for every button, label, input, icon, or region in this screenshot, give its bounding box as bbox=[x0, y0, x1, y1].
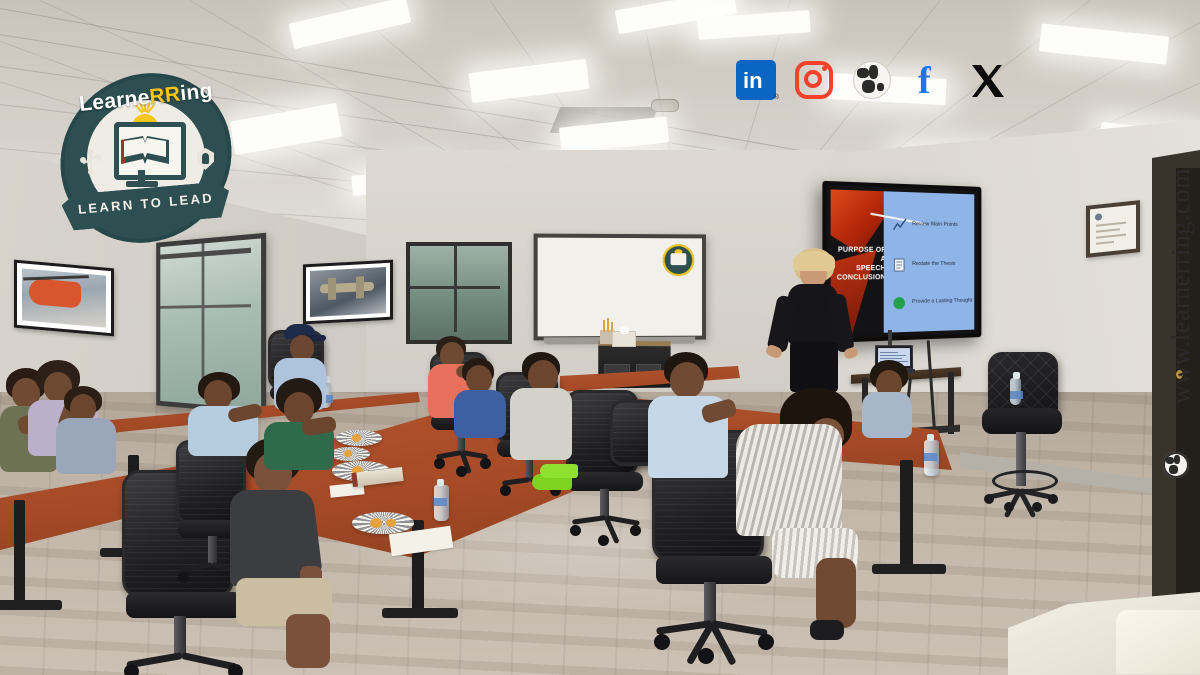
instagram-icon[interactable] bbox=[792, 58, 836, 102]
green-sneaker bbox=[540, 464, 578, 478]
student-right-2 bbox=[736, 388, 876, 658]
water-bottle bbox=[1010, 378, 1021, 405]
social-icon-bar: in ® f bbox=[734, 56, 1010, 104]
registered-mark: ® bbox=[774, 94, 779, 101]
presenter bbox=[766, 248, 852, 396]
tissue-box bbox=[612, 331, 636, 347]
water-bottle bbox=[924, 440, 939, 476]
slide-bullet-3: Provide a Lasting Thought bbox=[912, 298, 972, 305]
table-leg bbox=[14, 500, 25, 610]
ceiling-light-panel bbox=[469, 59, 590, 103]
framed-osprey-photo bbox=[303, 260, 393, 325]
exterior-window-right bbox=[406, 242, 512, 344]
student-right-3 bbox=[862, 360, 918, 438]
green-dot-icon bbox=[892, 296, 906, 310]
globe-icon bbox=[1163, 452, 1189, 478]
student-mid-2 bbox=[454, 358, 512, 438]
whiteboard bbox=[534, 234, 706, 341]
paper-plate bbox=[352, 512, 414, 534]
network-node-icon bbox=[80, 149, 102, 175]
table-leg bbox=[900, 460, 913, 572]
table-foot bbox=[872, 564, 946, 574]
facebook-icon[interactable]: f bbox=[908, 58, 952, 102]
water-bottle bbox=[434, 485, 449, 521]
linkedin-label: in bbox=[743, 71, 763, 91]
website-url: www.learnerring.com bbox=[1166, 168, 1196, 404]
framed-certificate bbox=[1086, 200, 1140, 258]
student-mid-3 bbox=[510, 352, 580, 492]
tv-mount-cable bbox=[888, 330, 892, 346]
slide-bullet-1: Review Main Points bbox=[912, 221, 958, 228]
framed-helicopter-photo bbox=[14, 260, 114, 337]
drafting-stool bbox=[978, 352, 1064, 522]
student-back-1 bbox=[264, 378, 340, 470]
facebook-label: f bbox=[918, 62, 931, 100]
student-left-4 bbox=[226, 438, 338, 668]
chart-line-icon bbox=[892, 218, 906, 232]
paper-plate bbox=[336, 430, 382, 446]
smoke-detector bbox=[651, 99, 679, 112]
table-foot bbox=[382, 608, 458, 618]
linkedin-icon[interactable]: in ® bbox=[734, 58, 778, 102]
learnerring-logo: LearneRRing LEARN TO LEAD bbox=[60, 74, 232, 242]
slide-body: Review Main Points Restate the Thesis Pr… bbox=[883, 191, 974, 333]
document-icon bbox=[892, 258, 906, 272]
globe-icon[interactable] bbox=[850, 58, 894, 102]
table-foot bbox=[0, 600, 62, 610]
whiteboard-logo-decal bbox=[663, 244, 695, 276]
student-right-1 bbox=[648, 352, 738, 492]
dark-sock bbox=[810, 620, 844, 640]
student-left-5 bbox=[56, 386, 120, 474]
x-twitter-icon[interactable] bbox=[966, 58, 1010, 102]
ceiling-light-panel bbox=[1039, 23, 1169, 64]
classroom-photo: PURPOSE OF A SPEECH CONCLUSION Review Ma… bbox=[0, 0, 1200, 675]
slide-bullet-2: Restate the Thesis bbox=[912, 261, 955, 267]
